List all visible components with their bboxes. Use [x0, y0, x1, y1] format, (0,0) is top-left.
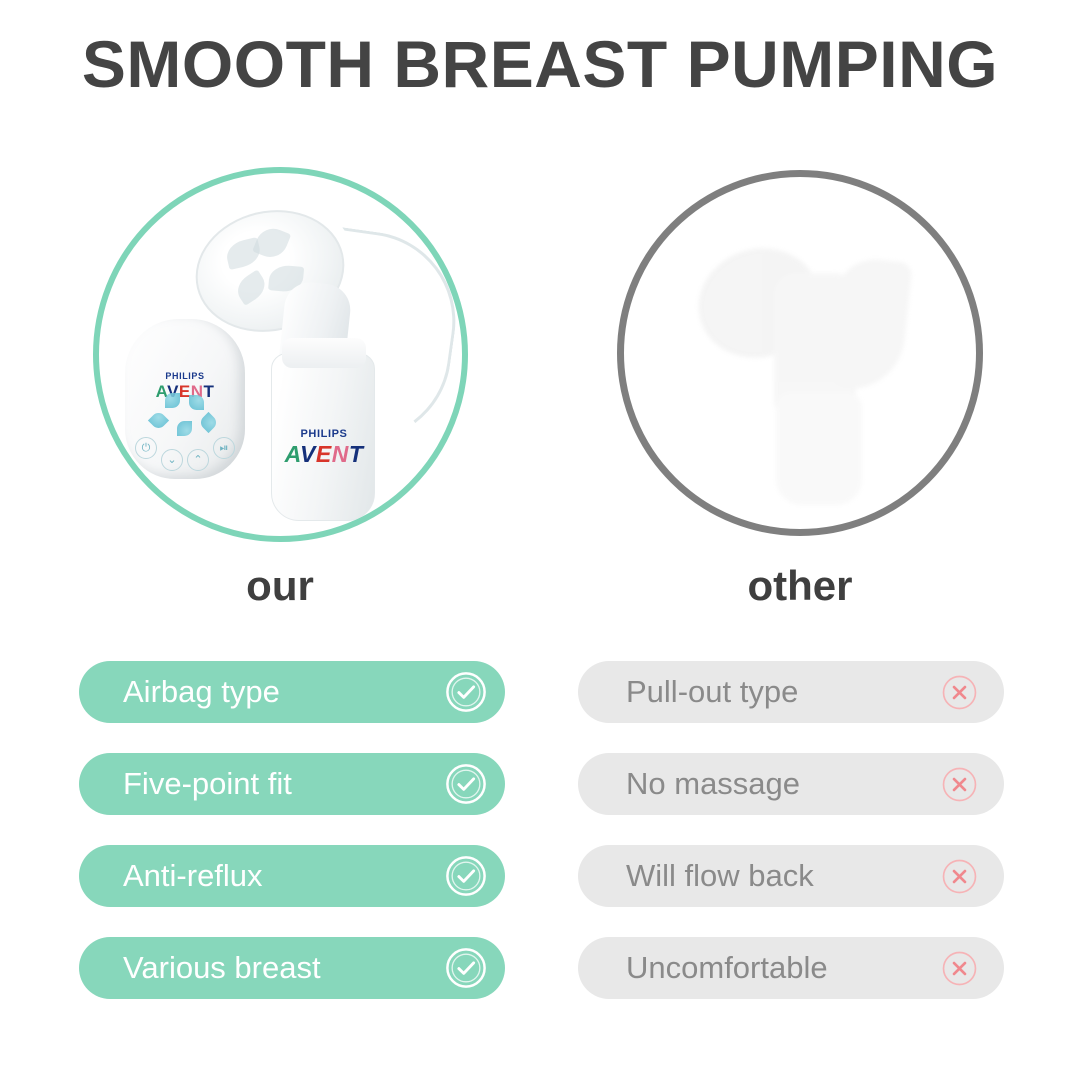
control-button-row: ⏻ ⌄ ⌃ ⏯ — [125, 437, 245, 477]
x-circle-icon — [941, 858, 978, 895]
feature-pill-our-4[interactable]: Various breast — [79, 937, 505, 999]
check-circle-icon — [445, 947, 487, 989]
increase-button[interactable]: ⌃ — [187, 449, 209, 471]
check-circle-icon — [445, 671, 487, 713]
product-image-our: PHILIPS AVENT ⏻ ⌄ ⌃ ⏯ — [93, 167, 468, 542]
feature-label: Airbag type — [123, 674, 445, 710]
feature-pill-our-2[interactable]: Five-point fit — [79, 753, 505, 815]
feature-pill-other-1[interactable]: Pull-out type — [578, 661, 1004, 723]
x-circle-icon — [941, 950, 978, 987]
feature-label: Pull-out type — [626, 674, 941, 710]
feature-label: Various breast — [123, 950, 445, 986]
bottle-avent-letter-v: V — [300, 441, 316, 467]
our-pump-illustration: PHILIPS AVENT ⏻ ⌄ ⌃ ⏯ — [99, 173, 462, 536]
bottle-brand-label: PHILIPS AVENT — [272, 428, 376, 468]
other-pump-illustration — [624, 177, 976, 529]
feature-pill-our-1[interactable]: Airbag type — [79, 661, 505, 723]
base-brand-philips: PHILIPS — [125, 371, 245, 381]
page-title: SMOOTH BREAST PUMPING — [0, 26, 1080, 102]
feature-label: Five-point fit — [123, 766, 445, 802]
product-image-other — [617, 170, 983, 536]
feature-label: No massage — [626, 766, 941, 802]
massage-petal-indicator — [149, 393, 221, 437]
feature-label: Uncomfortable — [626, 950, 941, 986]
bottle-collar — [282, 338, 366, 368]
power-button[interactable]: ⏻ — [135, 437, 157, 459]
bottle-avent-letter-a: A — [285, 441, 300, 467]
check-circle-icon — [445, 763, 487, 805]
infographic-page: SMOOTH BREAST PUMPING PHILIPS AVENT — [0, 0, 1080, 1080]
x-circle-icon — [941, 766, 978, 803]
feature-pill-other-2[interactable]: No massage — [578, 753, 1004, 815]
play-pause-button[interactable]: ⏯ — [213, 437, 235, 459]
bottle-avent-letter-e: E — [316, 441, 332, 467]
manual-pump-bottle — [776, 393, 862, 505]
feature-label: Anti-reflux — [123, 858, 445, 894]
pump-bottle: PHILIPS AVENT — [271, 353, 375, 521]
check-circle-icon — [445, 855, 487, 897]
x-circle-icon — [941, 674, 978, 711]
bottle-avent-letter-n: N — [332, 441, 349, 467]
feature-pill-other-3[interactable]: Will flow back — [578, 845, 1004, 907]
feature-list-our: Airbag type Five-point fit Anti-reflux — [79, 661, 505, 1029]
bottle-brand-avent: AVENT — [272, 441, 376, 468]
feature-pill-other-4[interactable]: Uncomfortable — [578, 937, 1004, 999]
feature-label: Will flow back — [626, 858, 941, 894]
column-caption-our: our — [130, 561, 430, 611]
pump-motor-unit: PHILIPS AVENT ⏻ ⌄ ⌃ ⏯ — [125, 319, 245, 479]
column-caption-other: other — [650, 561, 950, 611]
feature-list-other: Pull-out type No massage Will flow back … — [578, 661, 1004, 1029]
bottle-avent-letter-t: T — [349, 441, 364, 467]
bottle-brand-philips: PHILIPS — [272, 428, 376, 440]
feature-pill-our-3[interactable]: Anti-reflux — [79, 845, 505, 907]
decrease-button[interactable]: ⌄ — [161, 449, 183, 471]
